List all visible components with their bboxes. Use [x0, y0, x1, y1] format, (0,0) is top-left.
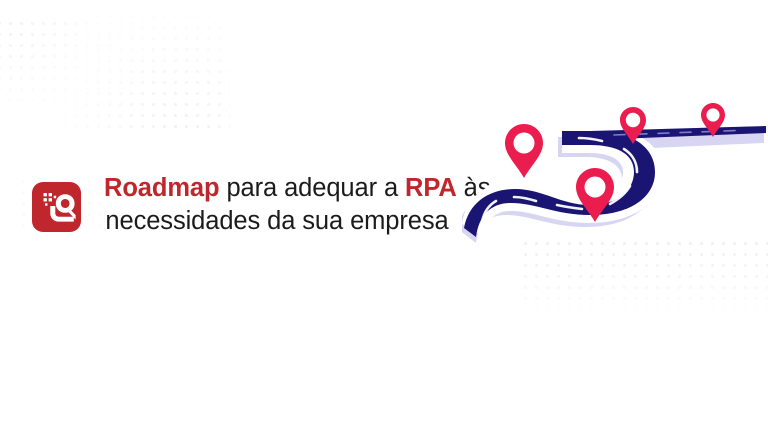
headline-accent-roadmap: Roadmap [104, 174, 219, 202]
headline-mid-text: para adequar a [219, 174, 405, 202]
headline-line-2: necessidades da sua empresa [100, 205, 460, 238]
logo-pixel-dots [44, 193, 57, 206]
page-title: Roadmap para adequar a RPA às necessidad… [100, 172, 460, 238]
dot-pattern-top-left [0, 18, 144, 128]
headline-line-1: Roadmap para adequar a RPA às [100, 172, 460, 205]
map-pin-1 [505, 124, 543, 178]
dot-pattern-top-middle [60, 0, 230, 130]
company-logo [32, 182, 81, 232]
headline-accent-rpa: RPA [405, 174, 457, 202]
logo-q-mark [50, 194, 75, 221]
slide-canvas: Roadmap para adequar a RPA às necessidad… [0, 0, 768, 432]
winding-roadmap-illustration [462, 100, 768, 260]
